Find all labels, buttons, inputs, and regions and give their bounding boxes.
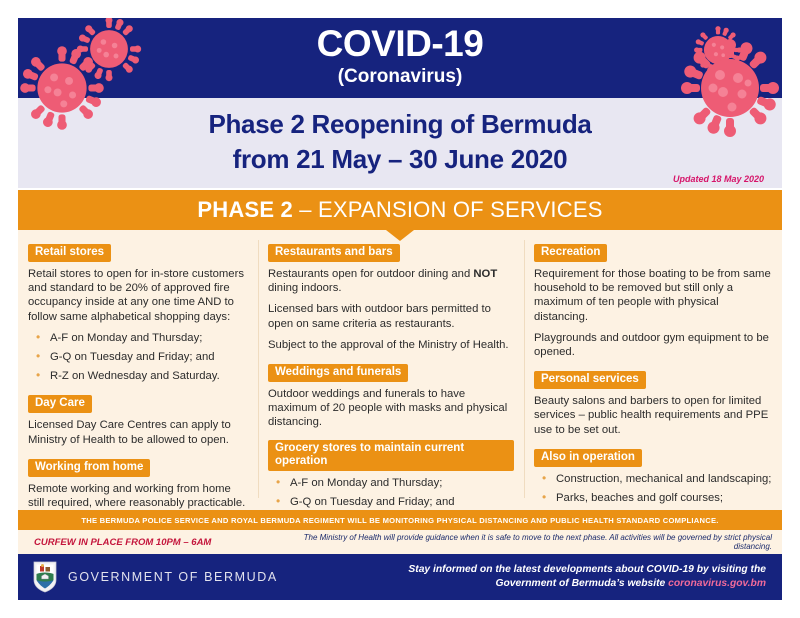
restaurants-paragraph-1: Restaurants open for outdoor dining and … bbox=[268, 267, 514, 295]
header-navy-band: COVID-19 (Coronavirus) bbox=[18, 18, 782, 98]
virus-icon-right-large bbox=[680, 38, 780, 138]
ministry-guidance-note: The Ministry of Health will provide guid… bbox=[288, 533, 782, 551]
banner-notch-arrow bbox=[386, 230, 414, 241]
list-item: A-F on Monday and Thursday; bbox=[28, 331, 248, 345]
weddings-paragraph: Outdoor weddings and funerals to have ma… bbox=[268, 387, 514, 430]
column-left: Retail stores Retail stores to open for … bbox=[18, 230, 258, 510]
section-tag-day-care: Day Care bbox=[28, 395, 92, 413]
bermuda-coat-of-arms-icon bbox=[32, 561, 58, 593]
phase-title-line2: from 21 May – 30 June 2020 bbox=[18, 140, 782, 175]
header-lavender-band: Phase 2 Reopening of Bermuda from 21 May… bbox=[18, 98, 782, 188]
restaurants-paragraph-3: Subject to the approval of the Ministry … bbox=[268, 338, 514, 352]
section-tag-working-from-home: Working from home bbox=[28, 459, 150, 477]
list-item: Parks, beaches and golf courses; bbox=[534, 491, 772, 505]
content-area: Retail stores Retail stores to open for … bbox=[18, 230, 782, 510]
phase-banner-label: PHASE 2 – EXPANSION OF SERVICES bbox=[197, 197, 602, 223]
page-title: COVID-19 bbox=[18, 24, 782, 64]
section-tag-personal-services: Personal services bbox=[534, 371, 646, 389]
day-care-paragraph: Licensed Day Care Centres can apply to M… bbox=[28, 418, 248, 446]
list-item: A-F on Monday and Thursday; bbox=[268, 476, 514, 490]
updated-date: Updated 18 May 2020 bbox=[673, 174, 764, 184]
section-tag-restaurants-and-bars: Restaurants and bars bbox=[268, 244, 400, 262]
stay-informed-line2-text: Government of Bermuda’s website bbox=[496, 578, 666, 589]
curfew-bar: CURFEW IN PLACE FROM 10PM – 6AM The Mini… bbox=[18, 530, 782, 554]
recreation-paragraph-1: Requirement for those boating to be from… bbox=[534, 267, 772, 324]
restaurants-paragraph-2: Licensed bars with outdoor bars permitte… bbox=[268, 302, 514, 330]
working-from-home-paragraph: Remote working and working from home sti… bbox=[28, 482, 248, 510]
covid-phase2-poster: COVID-19 (Coronavirus) bbox=[0, 0, 800, 618]
coronavirus-website-link[interactable]: coronavirus.gov.bm bbox=[668, 578, 766, 589]
retail-stores-bullets: A-F on Monday and Thursday; G-Q on Tuesd… bbox=[28, 331, 248, 384]
list-item: Construction, mechanical and landscaping… bbox=[534, 472, 772, 486]
curfew-notice: CURFEW IN PLACE FROM 10PM – 6AM bbox=[18, 537, 288, 548]
section-tag-recreation: Recreation bbox=[534, 244, 607, 262]
column-divider-left bbox=[258, 240, 259, 498]
footer-bar: GOVERNMENT OF BERMUDA Stay informed on t… bbox=[18, 554, 782, 600]
virus-icon-left-large bbox=[18, 44, 106, 132]
stay-informed-block: Stay informed on the latest developments… bbox=[408, 563, 782, 591]
phase-banner-bold: PHASE 2 bbox=[197, 197, 293, 222]
retail-stores-paragraph: Retail stores to open for in-store custo… bbox=[28, 267, 248, 324]
phase-banner: PHASE 2 – EXPANSION OF SERVICES bbox=[18, 190, 782, 230]
column-right: Recreation Requirement for those boating… bbox=[524, 230, 782, 510]
column-middle: Restaurants and bars Restaurants open fo… bbox=[258, 230, 524, 510]
stay-informed-line1: Stay informed on the latest developments… bbox=[408, 563, 766, 577]
list-item: G-Q on Tuesday and Friday; and bbox=[268, 495, 514, 509]
stay-informed-line2: Government of Bermuda’s website coronavi… bbox=[408, 577, 766, 591]
section-tag-weddings-and-funerals: Weddings and funerals bbox=[268, 364, 408, 382]
page-subtitle: (Coronavirus) bbox=[18, 66, 782, 88]
recreation-paragraph-2: Playgrounds and outdoor gym equipment to… bbox=[534, 331, 772, 359]
government-label: GOVERNMENT OF BERMUDA bbox=[68, 570, 278, 584]
section-tag-also-in-operation: Also in operation bbox=[534, 449, 642, 467]
phase-banner-rest: – EXPANSION OF SERVICES bbox=[293, 197, 603, 222]
police-compliance-text: THE BERMUDA POLICE SERVICE AND ROYAL BER… bbox=[81, 516, 718, 525]
column-divider-right bbox=[524, 240, 525, 498]
personal-services-paragraph: Beauty salons and barbers to open for li… bbox=[534, 394, 772, 437]
section-tag-retail-stores: Retail stores bbox=[28, 244, 111, 262]
phase-title-line1: Phase 2 Reopening of Bermuda bbox=[18, 98, 782, 140]
government-branding: GOVERNMENT OF BERMUDA bbox=[18, 561, 408, 593]
section-tag-grocery-stores: Grocery stores to maintain current opera… bbox=[268, 440, 514, 471]
list-item: R-Z on Wednesday and Saturday. bbox=[28, 369, 248, 383]
police-compliance-bar: THE BERMUDA POLICE SERVICE AND ROYAL BER… bbox=[18, 510, 782, 530]
list-item: G-Q on Tuesday and Friday; and bbox=[28, 350, 248, 364]
